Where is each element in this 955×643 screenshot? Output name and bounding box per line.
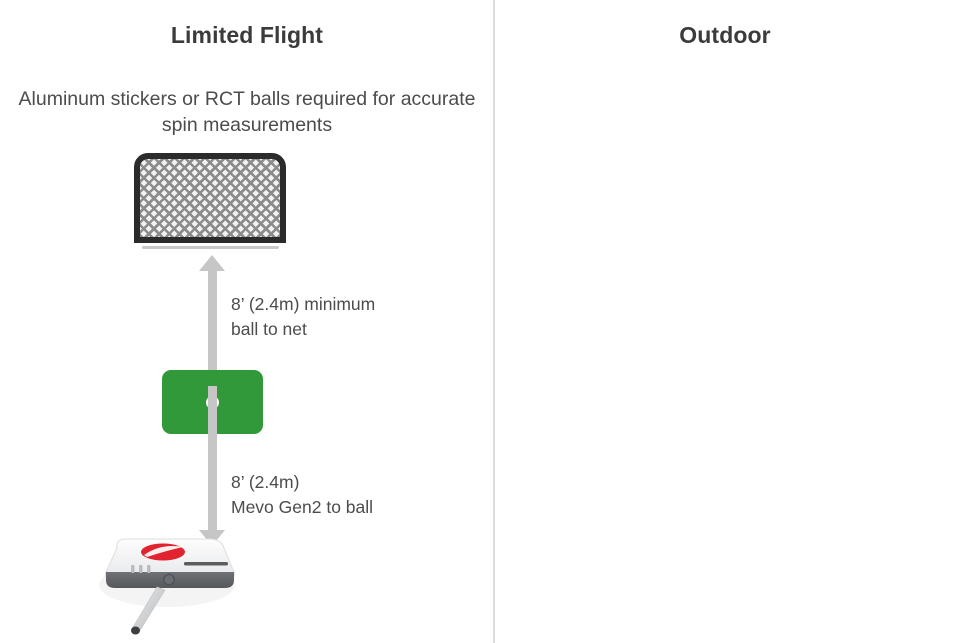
callout-mevo-to-ball: 8’ (2.4m) Mevo Gen2 to ball <box>231 470 373 520</box>
panel-title-outdoor: Outdoor <box>495 22 955 49</box>
golf-net-icon <box>134 153 286 243</box>
panel-limited-flight: Limited Flight Aluminum stickers or RCT … <box>0 0 494 643</box>
arrow-up-ball-to-net-icon <box>199 255 225 385</box>
callout-ball-to-net: 8’ (2.4m) minimum ball to net <box>231 292 375 342</box>
mevo-gen2-device-icon <box>95 530 245 635</box>
panel-title-limited-flight: Limited Flight <box>0 22 494 49</box>
panel-outdoor: Outdoor Unrestricted ball flight No stic… <box>495 0 955 643</box>
diagram-canvas: Limited Flight Aluminum stickers or RCT … <box>0 0 955 643</box>
net-base-line-icon <box>142 246 279 249</box>
panel-subtitle-limited-flight: Aluminum stickers or RCT balls required … <box>0 86 494 138</box>
arrow-down-mevo-to-ball-icon <box>199 386 225 546</box>
